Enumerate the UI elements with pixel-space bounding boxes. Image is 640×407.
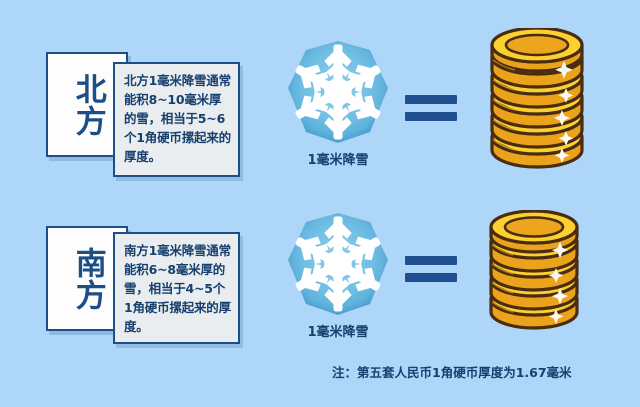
coin-stack-icon (478, 28, 596, 178)
equals-bar-bottom (405, 112, 457, 121)
region-description-box-south: 南方1毫米降雪通常能积6~8毫米厚的雪，相当于4~5个1角硬币摞起来的厚度。 (113, 232, 240, 344)
region-name-label-south: 南方 (70, 239, 103, 319)
infographic-canvas: 北方 北方1毫米降雪通常能积8~10毫米厚的雪，相当于5~6个1角硬币摞起来的厚… (0, 0, 640, 407)
equals-sign-south (405, 256, 457, 286)
region-description-box-north: 北方1毫米降雪通常能积8~10毫米厚的雪，相当于5~6个1角硬币摞起来的厚度。 (113, 62, 240, 177)
snowfall-illustration-north: 1毫米降雪 (276, 36, 400, 186)
snowfall-amount-label-north: 1毫米降雪 (276, 149, 400, 168)
region-row-north: 北方 北方1毫米降雪通常能积8~10毫米厚的雪，相当于5~6个1角硬币摞起来的厚… (0, 22, 640, 187)
snowfall-illustration-south: 1毫米降雪 (276, 208, 400, 358)
region-name-label-north: 北方 (70, 65, 103, 145)
coin-stack-south (478, 210, 590, 344)
snowflake-icon (282, 36, 394, 148)
region-row-south: 南方 南方1毫米降雪通常能积6~8毫米厚的雪，相当于4~5个1角硬币摞起来的厚度… (0, 196, 640, 361)
snowfall-amount-label-south: 1毫米降雪 (276, 321, 400, 340)
coin-stack-north (478, 28, 596, 182)
equals-sign-north (405, 95, 457, 125)
region-description-text-north: 北方1毫米降雪通常能积8~10毫米厚的雪，相当于5~6个1角硬币摞起来的厚度。 (124, 71, 231, 166)
snowflake-icon (282, 208, 394, 320)
footnote-text: 注：第五套人民币1角硬币厚度为1.67毫米 (332, 362, 572, 381)
region-description-text-south: 南方1毫米降雪通常能积6~8毫米厚的雪，相当于4~5个1角硬币摞起来的厚度。 (124, 241, 231, 336)
equals-bar-top (405, 256, 457, 265)
equals-bar-bottom (405, 273, 457, 282)
coin-stack-icon (478, 210, 590, 340)
equals-bar-top (405, 95, 457, 104)
